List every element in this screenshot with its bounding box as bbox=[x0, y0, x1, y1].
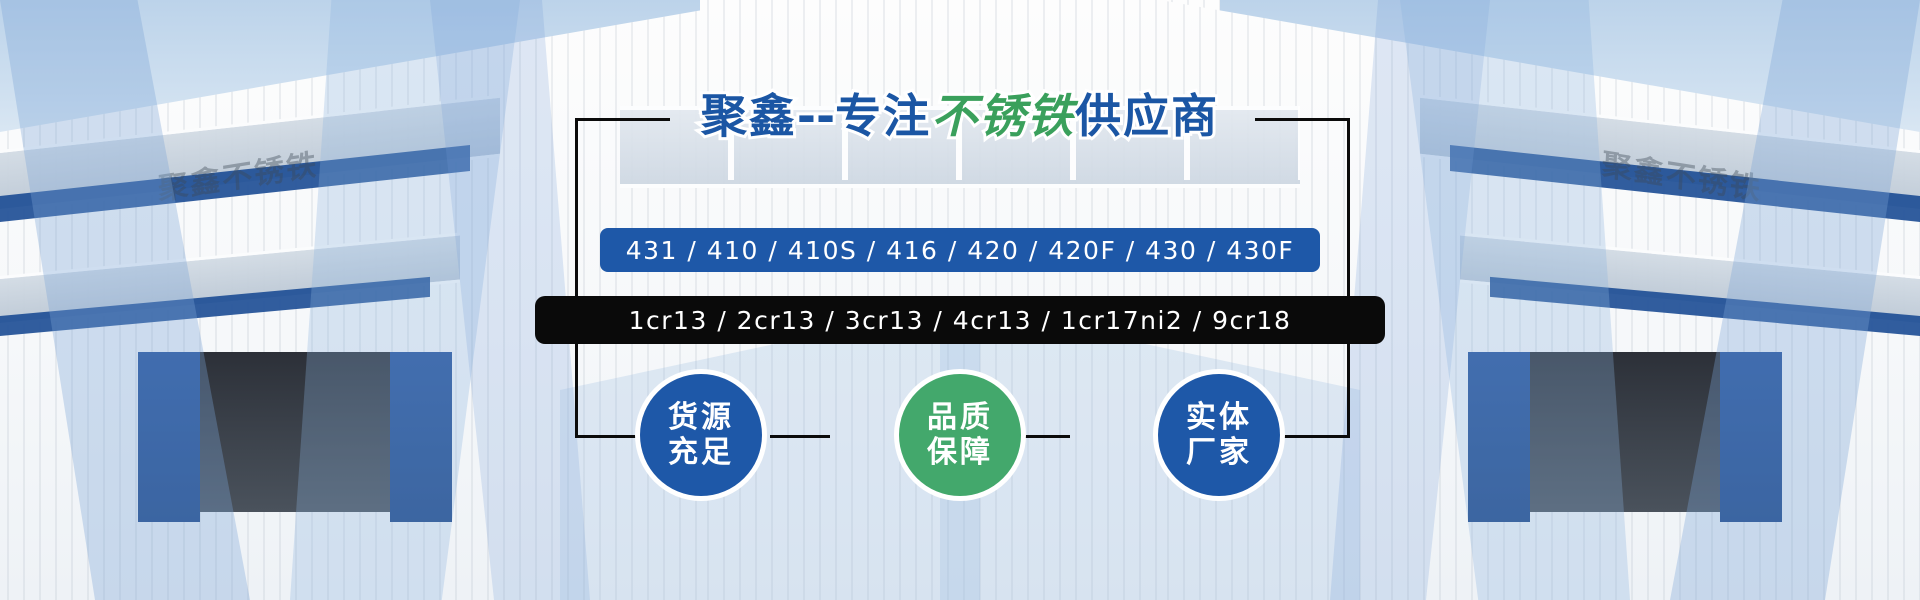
frame-left-edge bbox=[575, 118, 578, 438]
feature-circle-quality-line1: 品质 bbox=[927, 400, 993, 435]
feature-circle-factory-line2: 厂家 bbox=[1186, 435, 1252, 470]
feature-circle-group: 货源 充足 品质 保障 实体 厂家 bbox=[640, 370, 1280, 500]
feature-circle-quality: 品质 保障 bbox=[899, 374, 1021, 496]
stainless-grade-bar: 431 / 410 / 410S / 416 / 420 / 420F / 43… bbox=[600, 228, 1320, 272]
feature-circle-factory-line1: 实体 bbox=[1186, 400, 1252, 435]
feature-circle-quality-line2: 保障 bbox=[927, 435, 993, 470]
feature-circle-supply-line2: 充足 bbox=[668, 435, 734, 470]
headline-part-2: 专注 bbox=[835, 89, 931, 143]
promo-banner: 聚鑫不锈铁 聚鑫不锈铁 聚鑫--专注不锈铁供应商 431 / 410 / 410… bbox=[0, 0, 1920, 600]
headline-highlight: 不锈铁 bbox=[931, 89, 1075, 143]
headline-part-1: 聚鑫 bbox=[701, 89, 797, 143]
frame-bottom-right-segment bbox=[1272, 435, 1350, 438]
feature-circle-factory: 实体 厂家 bbox=[1158, 374, 1280, 496]
feature-circle-supply: 货源 充足 bbox=[640, 374, 762, 496]
headline-dash: -- bbox=[797, 89, 835, 143]
frame-bottom-left-segment bbox=[575, 435, 650, 438]
headline-part-3: 供应商 bbox=[1075, 89, 1219, 143]
frame-right-edge bbox=[1347, 118, 1350, 438]
feature-circle-supply-line1: 货源 bbox=[668, 400, 734, 435]
circle-connector-left bbox=[770, 435, 830, 438]
headline: 聚鑫--专注不锈铁供应商 bbox=[0, 80, 1920, 146]
cr-grade-bar: 1cr13 / 2cr13 / 3cr13 / 4cr13 / 1cr17ni2… bbox=[535, 296, 1385, 344]
